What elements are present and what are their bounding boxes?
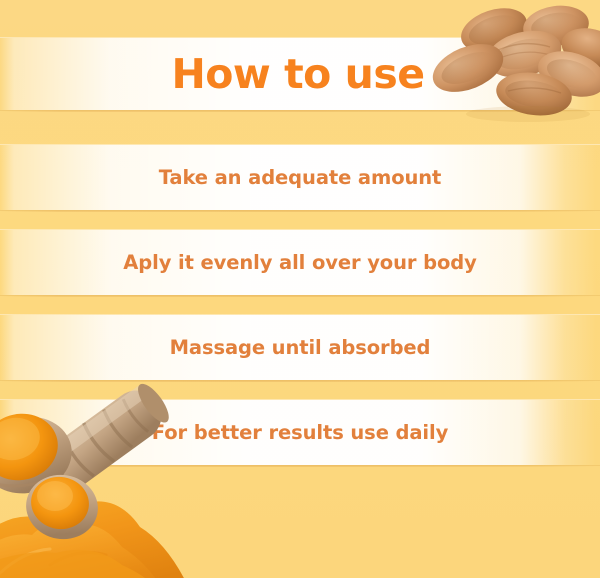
step-label-3: Massage until absorbed [170, 336, 431, 359]
step-item-1: Take an adequate amount [0, 145, 600, 210]
turmeric-image [0, 367, 205, 578]
almonds-image [416, 0, 600, 124]
step-label-2: Aply it evenly all over your body [123, 251, 476, 274]
step-item-2: Aply it evenly all over your body [0, 230, 600, 295]
step-label-1: Take an adequate amount [159, 166, 442, 189]
page-title: How to use [171, 54, 428, 95]
how-to-use-poster: How to use Take an adequate amount Aply … [0, 0, 600, 578]
